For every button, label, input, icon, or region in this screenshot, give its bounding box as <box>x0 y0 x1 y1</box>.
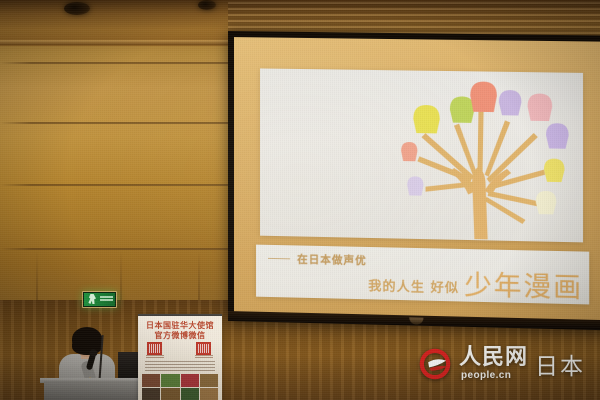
emergency-exit-sign <box>82 291 117 308</box>
banner-photo-grid <box>142 374 218 400</box>
slide-main-panel <box>260 68 583 242</box>
banner-photo <box>142 388 160 400</box>
presenter-bangs <box>74 331 100 340</box>
caption-subtitle: 在日本做声优 <box>297 251 367 268</box>
watermark-japanese: 日本 <box>535 347 585 381</box>
banner-photo <box>200 388 218 400</box>
banner-photo <box>181 374 199 387</box>
banner-title-line2: 官方微博微信 <box>138 330 222 341</box>
screen-pull-handle[interactable] <box>409 317 423 324</box>
caption-title-small: 我的人生 好似 <box>368 275 459 299</box>
caption-dash-icon <box>268 258 290 260</box>
banner-photo <box>200 374 218 387</box>
banner-rail <box>138 314 222 316</box>
tree-illustration <box>391 74 575 241</box>
wall-seam <box>0 248 262 250</box>
exit-sign-text <box>100 296 113 302</box>
watermark-text-block: 人民网 people.cn <box>459 347 528 381</box>
banner-photo <box>161 388 179 400</box>
caption-title-large: 少年漫画 <box>464 272 583 302</box>
slide-caption-panel: 在日本做声优 我的人生 好似 少年漫画 <box>256 245 589 305</box>
wall-seam <box>0 184 262 186</box>
watermark-english: people.cn <box>461 371 528 381</box>
banner-body-text <box>145 361 215 371</box>
wall-seam <box>0 62 262 64</box>
screen-surface: 在日本做声优 我的人生 好似 少年漫画 <box>234 37 600 320</box>
caption-title-row: 我的人生 好似 少年漫画 <box>368 270 583 302</box>
watermark: 人民网 people.cn 日本 <box>418 340 590 388</box>
banner-photo <box>161 374 179 387</box>
qr-caption <box>195 355 213 358</box>
embassy-banner: 日本国驻华大使馆 官方微博微信 <box>138 314 222 400</box>
qr-caption <box>146 355 164 358</box>
banner-photo <box>181 388 199 400</box>
wechat-qr-code-icon <box>196 342 211 355</box>
projection-screen: 在日本做声优 我的人生 好似 少年漫画 <box>228 31 600 330</box>
watermark-chinese: 人民网 <box>459 347 528 369</box>
weibo-qr-code-icon <box>147 342 162 355</box>
caption-subtitle-row: 在日本做声优 <box>268 251 367 268</box>
conference-photo-scene: 在日本做声优 我的人生 好似 少年漫画 日本国驻华大使馆 官方微博微信 <box>0 0 600 400</box>
people-cn-logo-icon <box>418 347 452 381</box>
banner-photo <box>142 374 160 387</box>
wall-seam <box>0 122 262 124</box>
downlight-icon <box>198 0 216 10</box>
downlight-icon <box>64 2 90 15</box>
